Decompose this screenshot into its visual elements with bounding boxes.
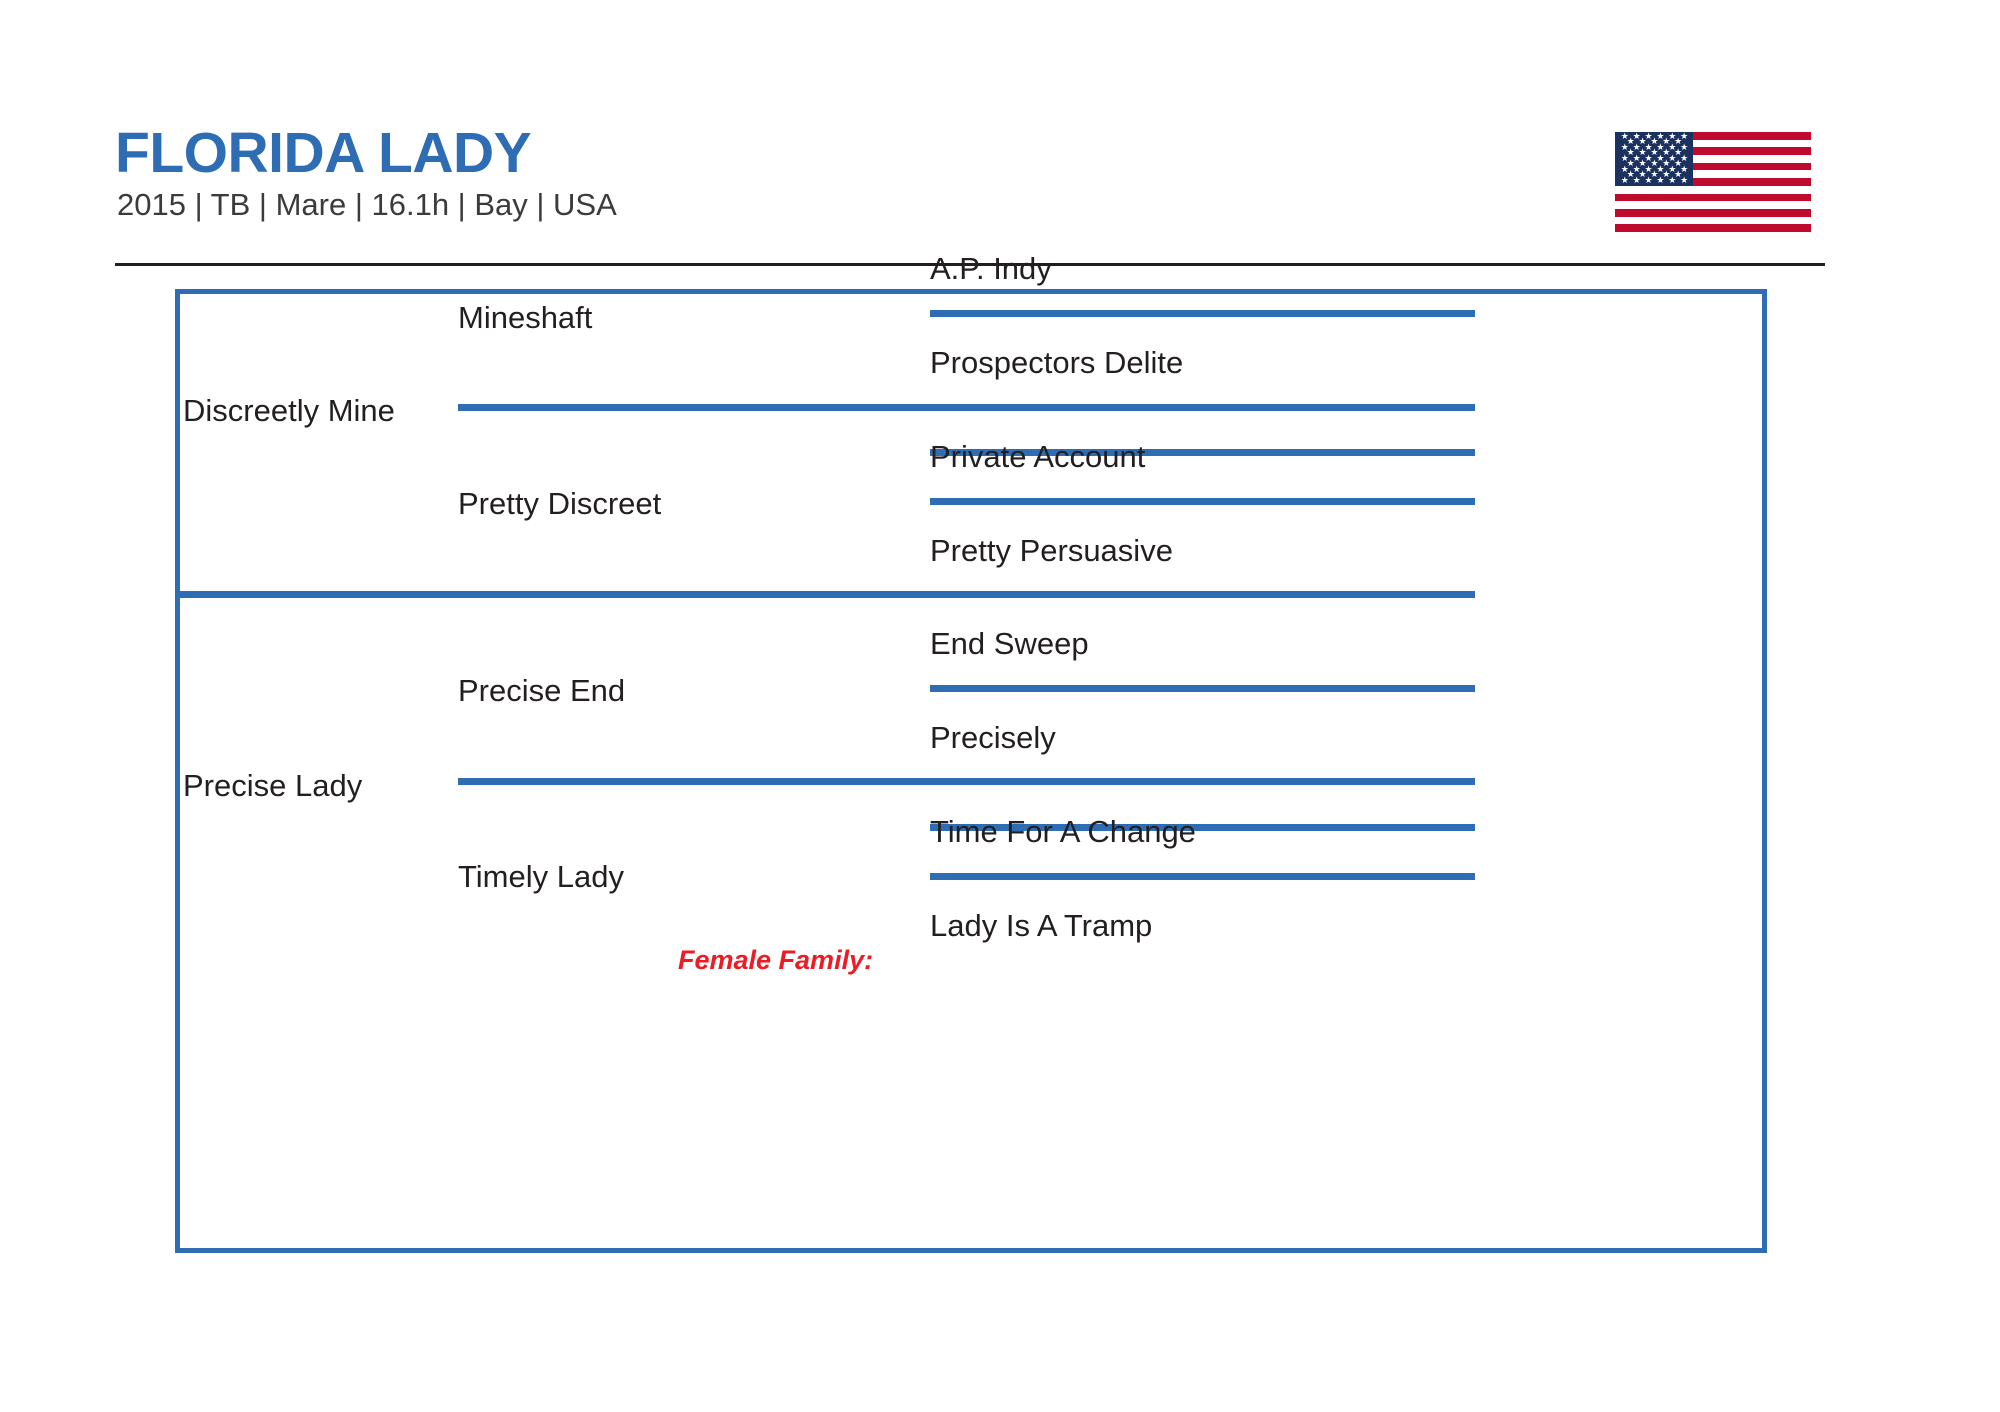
pedigree-g3-divider-4: [930, 873, 1475, 880]
flag-stripe: [1615, 224, 1811, 232]
flag-star-icon: ★: [1668, 176, 1677, 185]
usa-flag-icon: ★★★★★★★★★★★★★★★★★★★★★★★★★★★★★★★★★★★★★★★★…: [1615, 132, 1811, 232]
pedigree-g3-name-4[interactable]: Pretty Persuasive: [930, 535, 1173, 566]
flag-star-icon: ★: [1644, 176, 1653, 185]
flag-canton: ★★★★★★★★★★★★★★★★★★★★★★★★★★★★★★★★★★★★★★★★…: [1615, 132, 1693, 186]
flag-stripe: [1615, 194, 1811, 202]
pedigree-g3-name-3[interactable]: Private Account: [930, 441, 1145, 472]
flag-stripe: [1615, 209, 1811, 217]
flag-star-icon: ★: [1680, 176, 1689, 185]
pedigree-g3-divider-2: [930, 498, 1475, 505]
pedigree-g3-divider-3: [930, 685, 1475, 692]
flag-star-icon: ★: [1620, 176, 1629, 185]
flag-stripe: [1615, 186, 1811, 194]
flag-stripe: [1615, 201, 1811, 209]
page-header: FLORIDA LADY 2015 | TB | Mare | 16.1h | …: [115, 125, 1825, 270]
pedigree-g1-dam-name[interactable]: Precise Lady: [183, 770, 362, 801]
pedigree-g3-name-2[interactable]: Prospectors Delite: [930, 347, 1183, 378]
page-title: FLORIDA LADY: [115, 125, 531, 182]
pedigree-g3-name-8[interactable]: Lady Is A Tramp: [930, 910, 1152, 941]
pedigree-g1-sire-name[interactable]: Discreetly Mine: [183, 395, 395, 426]
pedigree-g2-divider-sire: [458, 404, 1475, 411]
pedigree-page: FLORIDA LADY 2015 | TB | Mare | 16.1h | …: [0, 0, 2000, 1412]
pedigree-g2-name-1[interactable]: Mineshaft: [458, 302, 592, 333]
pedigree-g2-divider-dam: [458, 778, 1475, 785]
flag-star-icon: ★: [1656, 176, 1665, 185]
horse-details-line: 2015 | TB | Mare | 16.1h | Bay | USA: [117, 189, 617, 220]
flag-star-icon: ★: [1632, 176, 1641, 185]
flag-stripe: [1615, 217, 1811, 225]
pedigree-g3-name-5[interactable]: End Sweep: [930, 628, 1089, 659]
pedigree-g1-divider: [180, 591, 1475, 598]
pedigree-g3-divider-1: [930, 310, 1475, 317]
female-family-label: Female Family:: [678, 947, 873, 974]
pedigree-g3-name-6[interactable]: Precisely: [930, 722, 1056, 753]
pedigree-g2-name-4[interactable]: Timely Lady: [458, 861, 624, 892]
pedigree-g2-name-2[interactable]: Pretty Discreet: [458, 488, 661, 519]
pedigree-chart: A.P. Indy Prospectors Delite Private Acc…: [175, 289, 1767, 1253]
pedigree-g3-name-7[interactable]: Time For A Change: [930, 816, 1196, 847]
pedigree-g2-name-3[interactable]: Precise End: [458, 675, 625, 706]
pedigree-g3-name-1[interactable]: A.P. Indy: [930, 253, 1052, 284]
